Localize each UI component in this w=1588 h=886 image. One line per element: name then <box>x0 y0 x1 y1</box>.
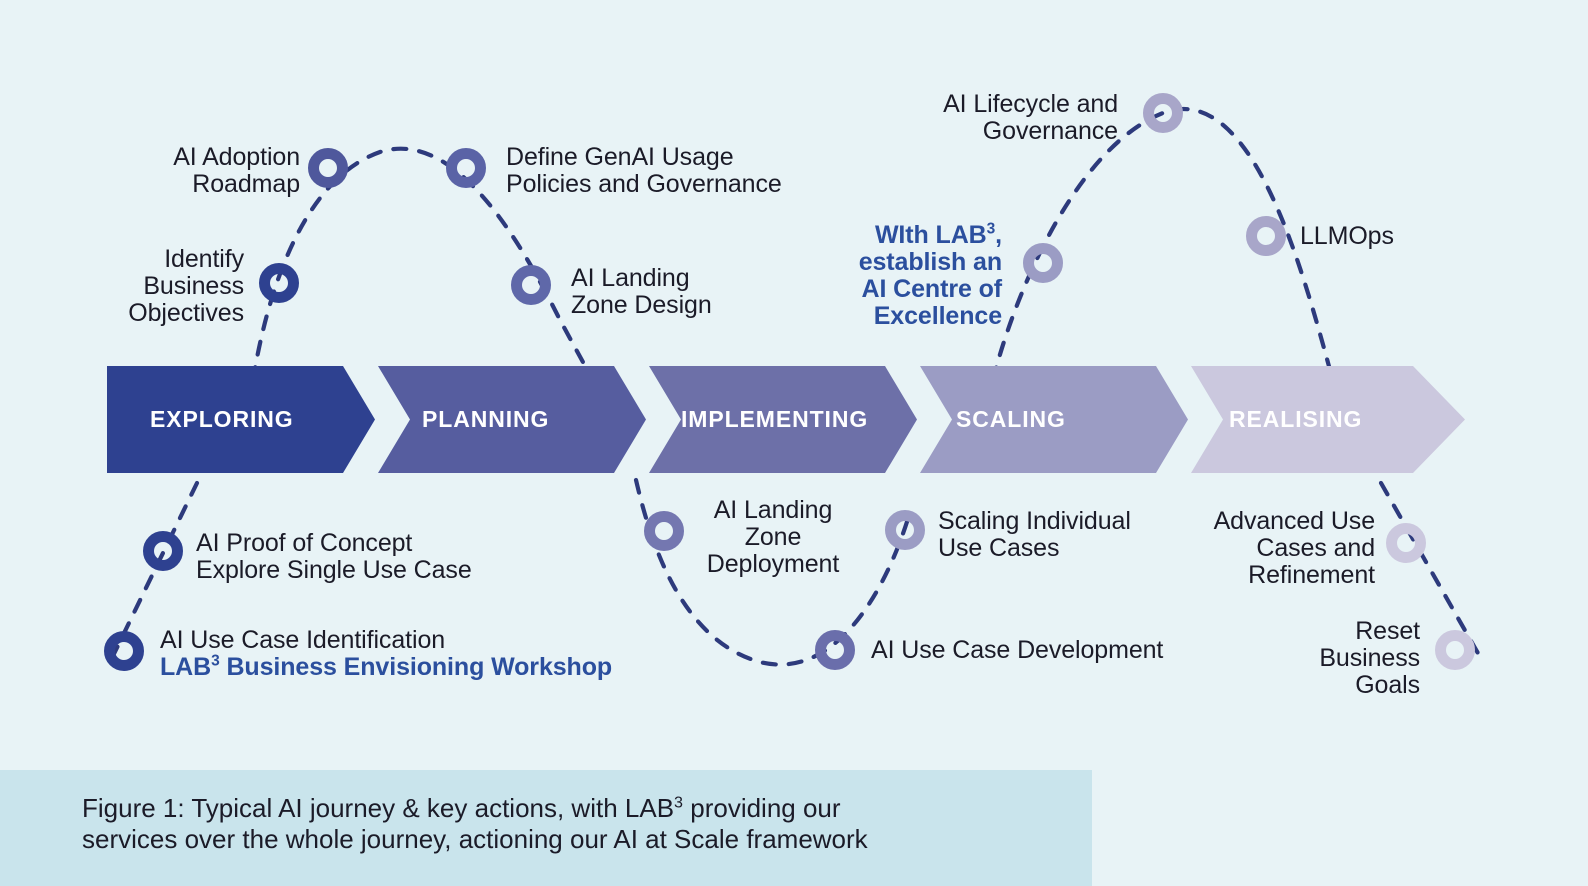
label-with-lab3-establish-ai-coe: WIth LAB3,establish anAI Centre ofExcell… <box>780 222 1002 330</box>
journey-diagram: EXPLORING PLANNING IMPLEMENTING SCALING … <box>0 0 1588 886</box>
marker-reset-business-goals[interactable] <box>1441 636 1470 665</box>
marker-ai-use-case-development[interactable] <box>821 636 850 665</box>
label-lab3-business-envisioning-workshop: LAB3 Business Envisioning Workshop <box>160 653 612 681</box>
marker-ai-use-case-identification[interactable] <box>110 637 139 666</box>
label-ai-use-case-development: AI Use Case Development <box>871 637 1211 664</box>
label-identify-business-objectives: IdentifyBusinessObjectives <box>60 246 244 327</box>
label-ai-adoption-roadmap: AI AdoptionRoadmap <box>60 144 300 198</box>
label-with-lab3-establish-ai-coe-text: WIth LAB3,establish anAI Centre ofExcell… <box>859 221 1002 330</box>
marker-ai-landing-zone-deployment[interactable] <box>650 517 679 546</box>
marker-scaling-individual-use-cases[interactable] <box>891 516 920 545</box>
marker-ai-landing-zone-design[interactable] <box>517 271 546 300</box>
label-llmops: LLMOps <box>1300 223 1500 250</box>
marker-define-genai-usage-policies[interactable] <box>452 154 481 183</box>
label-ai-landing-zone-deployment: AI LandingZoneDeployment <box>688 497 858 578</box>
marker-with-lab3-establish-ai-coe[interactable] <box>1029 249 1058 278</box>
label-reset-business-goals: ResetBusinessGoals <box>1200 618 1420 699</box>
label-ai-proof-of-concept: AI Proof of ConceptExplore Single Use Ca… <box>196 530 616 584</box>
marker-ai-adoption-roadmap[interactable] <box>314 154 343 183</box>
marker-llmops[interactable] <box>1252 222 1281 251</box>
label-ai-lifecycle-and-governance: AI Lifecycle andGovernance <box>800 91 1118 145</box>
label-advanced-use-cases-and-refinement: Advanced UseCases andRefinement <box>1130 508 1375 589</box>
label-define-genai-usage-policies-and-governance: Define GenAI UsagePolicies and Governanc… <box>506 144 966 198</box>
marker-ai-proof-of-concept[interactable] <box>149 537 178 566</box>
label-ai-use-case-identification: AI Use Case IdentificationLAB3 Business … <box>160 627 680 681</box>
milestone-markers-layer <box>0 0 1588 886</box>
marker-ai-lifecycle-and-governance[interactable] <box>1149 99 1178 128</box>
marker-advanced-use-cases[interactable] <box>1392 529 1421 558</box>
figure-caption: Figure 1: Typical AI journey & key actio… <box>82 793 1072 855</box>
marker-identify-business-objectives[interactable] <box>265 269 294 298</box>
label-ai-use-case-identification-text: AI Use Case Identification <box>160 626 445 654</box>
